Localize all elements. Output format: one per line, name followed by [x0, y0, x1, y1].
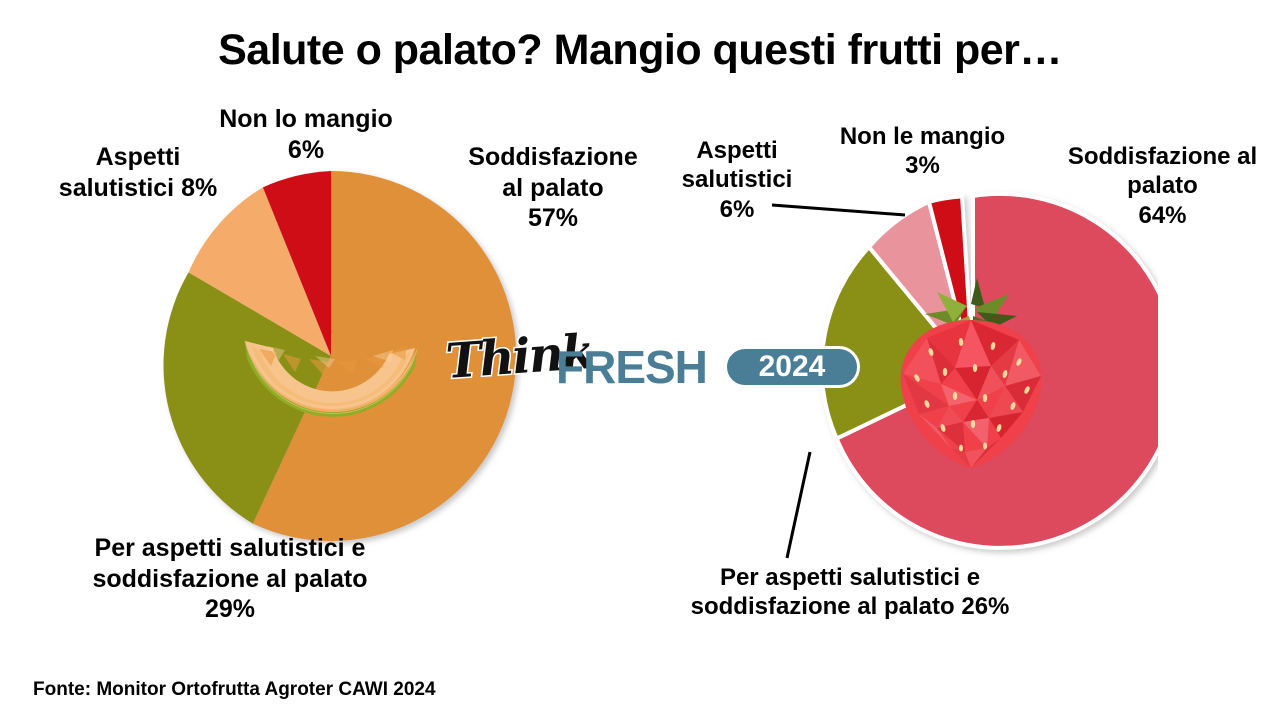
label-non-le-mangio-right: Non le mangio 3%	[800, 122, 1045, 181]
label-soddisfazione-left: Soddisfazione al palato 57%	[448, 142, 658, 234]
page-title: Salute o palato? Mangio questi frutti pe…	[0, 26, 1280, 75]
slide-canvas: Salute o palato? Mangio questi frutti pe…	[0, 0, 1280, 720]
label-per-aspetti-right: Per aspetti salutistici e soddisfazione …	[640, 563, 1060, 622]
source-note: Fonte: Monitor Ortofrutta Agroter CAWI 2…	[33, 679, 436, 701]
label-soddisfazione-right: Soddisfazione al palato 64%	[1045, 142, 1280, 230]
thinkfresh-logo: Think FRESH 2024	[448, 332, 868, 406]
logo-fresh-text: FRESH	[556, 340, 707, 394]
logo-year-badge: 2024	[724, 346, 860, 388]
label-aspetti-salutistici-right: Aspetti salutistici 6%	[657, 136, 817, 224]
label-per-aspetti-left: Per aspetti salutistici e soddisfazione …	[50, 533, 410, 625]
label-aspetti-salutistici-left: Aspetti salutistici 8%	[38, 142, 238, 203]
